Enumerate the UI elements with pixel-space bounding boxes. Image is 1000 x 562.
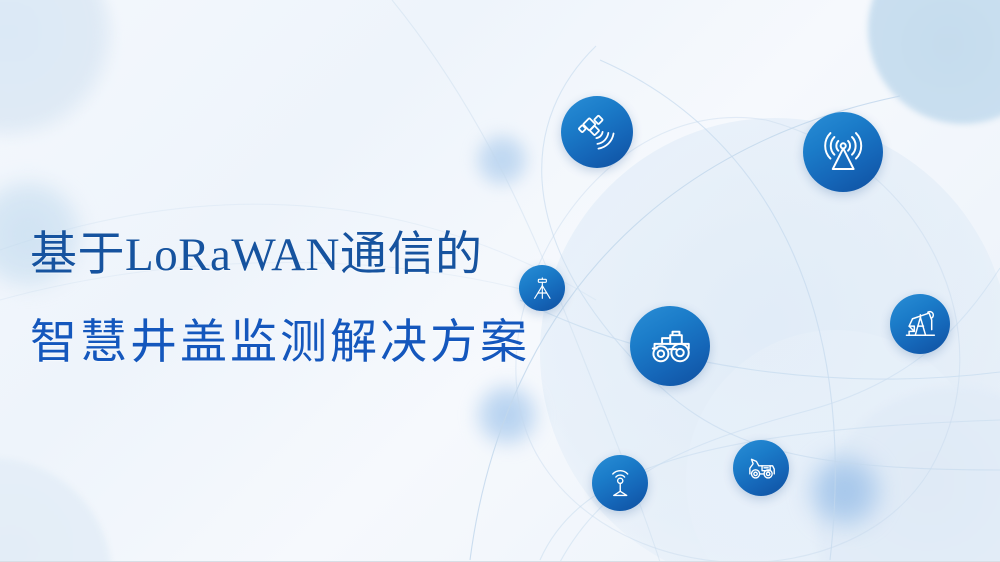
wireless-sensor-icon [604, 467, 636, 499]
oil-pumpjack-icon [903, 307, 938, 342]
background-blob-top-right [868, 0, 1000, 124]
node-wireless-sensor [592, 455, 648, 511]
node-satellite [561, 96, 633, 168]
background-blob-bottom-left [0, 458, 112, 562]
tractor-icon [647, 323, 693, 369]
node-antenna-tower [803, 112, 883, 192]
node-harvester [733, 440, 789, 496]
survey-tripod-icon [529, 275, 556, 302]
orbit-ellipse-main [516, 117, 960, 562]
slide-title-line-1: 基于LoRaWAN通信的 [30, 232, 530, 279]
background-blob-top-left [0, 0, 118, 142]
background-orb-small [686, 330, 986, 562]
satellite-icon [576, 111, 618, 153]
background-dot-upper [474, 132, 530, 188]
background-dot-lower [806, 452, 884, 530]
slide-title-line-2: 智慧井盖监测解决方案 [30, 320, 530, 367]
node-tractor [630, 306, 710, 386]
cover-slide: 基于LoRaWAN通信的 智慧井盖监测解决方案 [0, 0, 1000, 562]
antenna-tower-icon [820, 129, 866, 175]
background-blob-bottom-right [816, 387, 1000, 562]
slide-title: 基于LoRaWAN通信的 智慧井盖监测解决方案 [30, 232, 530, 367]
node-oil-pumpjack [890, 294, 950, 354]
background-dot-middle [474, 382, 540, 448]
harvester-icon [745, 452, 777, 484]
